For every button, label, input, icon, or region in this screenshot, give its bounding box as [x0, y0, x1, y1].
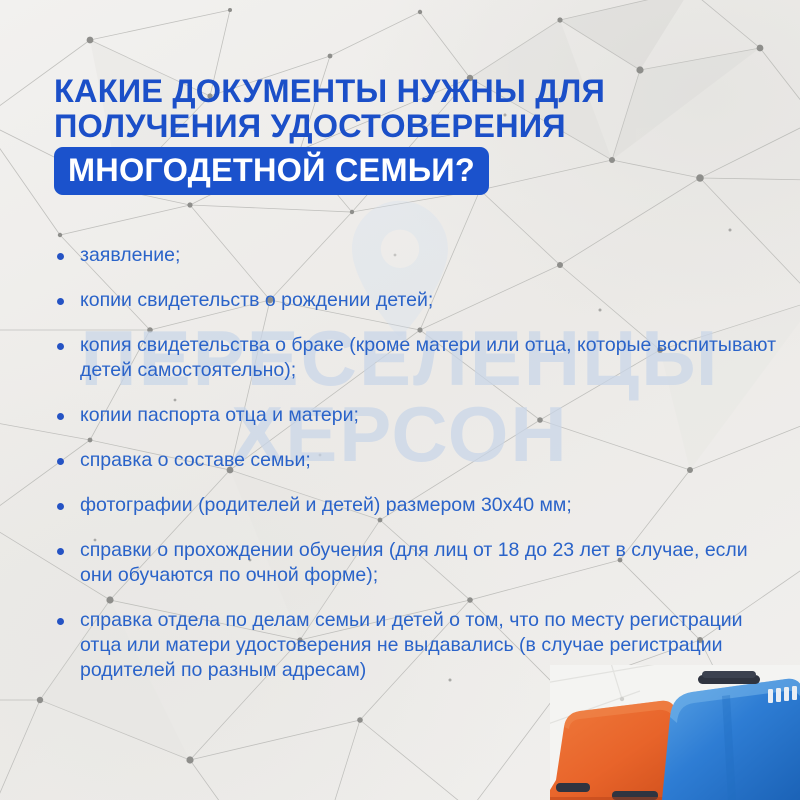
list-item-text: копия свидетельства о браке (кроме матер…	[80, 334, 776, 381]
list-item-text: справка отдела по делам семьи и детей о …	[80, 609, 743, 681]
title-line-1: КАКИЕ ДОКУМЕНТЫ НУЖНЫ ДЛЯ	[54, 74, 754, 109]
list-item-text: справка о составе семьи;	[80, 449, 311, 471]
list-item-text: копии паспорта отца и матери;	[80, 404, 359, 426]
list-item-text: заявление;	[80, 244, 180, 266]
bullet-icon	[57, 343, 64, 350]
title-highlight-badge: МНОГОДЕТНОЙ СЕМЬИ?	[54, 147, 489, 195]
bullet-icon	[57, 413, 64, 420]
bullet-icon	[57, 458, 64, 465]
infographic-poster: ПЕРЕСЕЛЕНЦЫ ХЕРСОН КАКИЕ ДОКУМЕНТЫ НУЖНЫ…	[0, 0, 800, 800]
title-line-2: ПОЛУЧЕНИЯ УДОСТОВЕРЕНИЯ	[54, 109, 754, 144]
bullet-icon	[57, 503, 64, 510]
list-item: копии свидетельств о рождении детей;	[54, 288, 784, 313]
list-item: копия свидетельства о браке (кроме матер…	[54, 333, 784, 383]
bullet-icon	[57, 253, 64, 260]
list-item: заявление;	[54, 243, 784, 268]
bullet-icon	[57, 548, 64, 555]
list-item: справка о составе семьи;	[54, 448, 784, 473]
list-item: копии паспорта отца и матери;	[54, 403, 784, 428]
list-item-text: справки о прохождении обучения (для лиц …	[80, 539, 748, 586]
documents-list: заявление; копии свидетельств о рождении…	[54, 243, 784, 683]
list-item-text: фотографии (родителей и детей) размером …	[80, 494, 572, 516]
title-badge-row: МНОГОДЕТНОЙ СЕМЬИ?	[54, 147, 754, 195]
bullet-icon	[57, 298, 64, 305]
list-item-text: копии свидетельств о рождении детей;	[80, 289, 433, 311]
bullet-icon	[57, 618, 64, 625]
list-item: справка отдела по делам семьи и детей о …	[54, 608, 784, 683]
suitcases-illustration	[550, 665, 800, 800]
list-item: справки о прохождении обучения (для лиц …	[54, 538, 784, 588]
page-title: КАКИЕ ДОКУМЕНТЫ НУЖНЫ ДЛЯ ПОЛУЧЕНИЯ УДОС…	[54, 74, 754, 195]
list-item: фотографии (родителей и детей) размером …	[54, 493, 784, 518]
